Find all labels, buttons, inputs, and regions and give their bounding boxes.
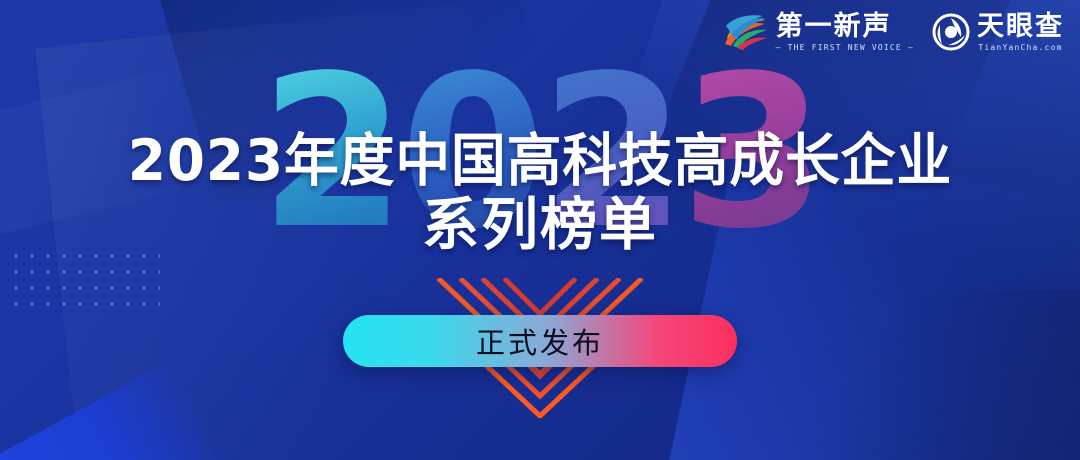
logo-bar: 第一新声 — THE FIRST NEW VOICE — 天眼查 TianYan… [723,12,1064,52]
release-announcement-button[interactable]: 正式发布 [343,315,737,367]
page-title: 2023年度中国高科技高成长企业 系列榜单 [0,130,1080,258]
tianyancha-text: 天眼查 TianYanCha.com [977,13,1064,52]
tianyancha-eye-logo-icon [932,13,970,51]
headline-line-2: 系列榜单 [0,192,1080,258]
logo-tagline-en: — THE FIRST NEW VOICE — [776,44,914,52]
first-new-voice-text: 第一新声 — THE FIRST NEW VOICE — [776,13,914,52]
logo-name-cn: 第一新声 [776,13,914,40]
logo-tagline-en: TianYanCha.com [977,44,1064,52]
chevron-decoration-lower-icon [430,362,650,418]
first-new-voice-swirl-logo-icon [723,12,769,52]
logo-name-cn: 天眼查 [977,13,1064,40]
logo-first-new-voice[interactable]: 第一新声 — THE FIRST NEW VOICE — [723,12,914,52]
headline-line-1: 2023年度中国高科技高成长企业 [22,130,1059,192]
logo-tianyancha[interactable]: 天眼查 TianYanCha.com [932,13,1064,52]
release-announcement-label: 正式发布 [476,320,604,362]
facet-bottom-right-shadow [780,290,1080,460]
promo-banner: 2023 [0,0,1080,460]
